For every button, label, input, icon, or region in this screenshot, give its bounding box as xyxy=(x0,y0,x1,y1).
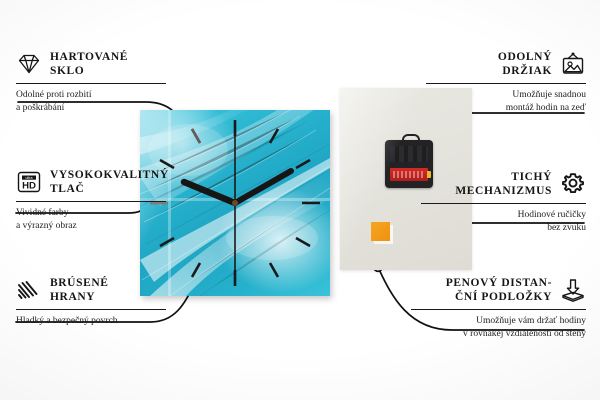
feature-description: Hodinové ručičky bez zvuku xyxy=(421,209,586,234)
feature-title: VYSOKOKVALITNÝ TLAČ xyxy=(50,168,169,196)
feature-description-line: v rovnakej vzdialenosti od steny xyxy=(411,328,586,341)
feature-title-line: ČNÍ PODLOŽKY xyxy=(446,290,552,304)
feature-title-line: SKLO xyxy=(50,64,128,78)
foam-spacer-pad xyxy=(371,222,390,241)
feature-tempered-glass: HARTOVANÉ SKLO Odolné proti rozbití a po… xyxy=(16,50,166,114)
feature-description: Odolné proti rozbití a poškrábání xyxy=(16,89,166,114)
hand-hub xyxy=(232,200,238,206)
feature-silent-mechanism: TICHÝ MECHANIZMUS Hodinové ručičky bez z… xyxy=(421,170,586,234)
feature-title-line: VYSOKOKVALITNÝ xyxy=(50,168,169,182)
ultra-hd-badge-icon: ultra HD xyxy=(16,169,42,195)
feature-header: TICHÝ MECHANIZMUS xyxy=(421,170,586,198)
feature-title-line: PENOVÝ DISTAN- xyxy=(446,276,552,290)
minute-hand xyxy=(235,171,291,203)
feature-title-line: TICHÝ xyxy=(455,170,552,184)
feature-title-line: DRŽIAK xyxy=(498,64,552,78)
feature-title: HARTOVANÉ SKLO xyxy=(50,50,128,78)
feature-description: Vividné farby a výrazný obraz xyxy=(16,207,166,232)
feature-description-line: montáž hodin na zeď xyxy=(426,102,586,115)
feature-high-quality-print: ultra HD VYSOKOKVALITNÝ TLAČ Vividné far… xyxy=(16,168,166,232)
feature-description-line: Odolné proti rozbití xyxy=(16,89,166,102)
feature-description: Umožňuje vám držať hodiny v rovnakej vzd… xyxy=(411,315,586,340)
feature-title: ODOLNÝ DRŽIAK xyxy=(498,50,552,78)
feature-polished-edges: BRÚSENÉ HRANY Hladký a bezpečný povrch xyxy=(16,276,166,328)
feature-description: Umožňuje snadnou montáž hodin na zeď xyxy=(426,89,586,114)
feature-header: PENOVÝ DISTAN- ČNÍ PODLOŽKY xyxy=(411,276,586,304)
feature-description-line: a poškrábání xyxy=(16,102,166,115)
feature-durable-holder: ODOLNÝ DRŽIAK Umožňuje snadnou montáž ho… xyxy=(426,50,586,114)
clock-hands xyxy=(140,110,330,296)
feature-description-line: Umožňuje snadnou xyxy=(426,89,586,102)
brushed-edges-icon xyxy=(16,277,42,303)
feature-title-line: HARTOVANÉ xyxy=(50,50,128,64)
feature-description-line: Hladký a bezpečný povrch xyxy=(16,315,166,328)
svg-text:HD: HD xyxy=(22,181,36,192)
feature-description-line: Hodinové ručičky xyxy=(421,209,586,222)
feature-divider xyxy=(16,201,166,202)
foam-pad-arrow-icon xyxy=(560,277,586,303)
feature-header: BRÚSENÉ HRANY xyxy=(16,276,166,304)
feature-title-line: HRANY xyxy=(50,290,109,304)
feature-title-line: BRÚSENÉ xyxy=(50,276,109,290)
gear-icon xyxy=(560,171,586,197)
infographic-canvas: HARTOVANÉ SKLO Odolné proti rozbití a po… xyxy=(0,0,600,400)
feature-title: TICHÝ MECHANIZMUS xyxy=(455,170,552,198)
mechanism-hanger-tab xyxy=(402,134,420,145)
feature-description-line: Vividné farby xyxy=(16,207,166,220)
feature-description: Hladký a bezpečný povrch xyxy=(16,315,166,328)
hour-hand xyxy=(184,182,235,203)
feature-divider xyxy=(411,309,586,310)
feature-divider xyxy=(16,309,166,310)
glass-clock-face xyxy=(140,110,330,296)
feature-title: BRÚSENÉ HRANY xyxy=(50,276,109,304)
feature-title-line: MECHANIZMUS xyxy=(455,184,552,198)
feature-description-line: Umožňuje vám držať hodiny xyxy=(411,315,586,328)
feature-divider xyxy=(421,203,586,204)
feature-title: PENOVÝ DISTAN- ČNÍ PODLOŽKY xyxy=(446,276,552,304)
feature-header: ODOLNÝ DRŽIAK xyxy=(426,50,586,78)
feature-description-line: bez zvuku xyxy=(421,222,586,235)
feature-title-line: TLAČ xyxy=(50,182,169,196)
feature-title-line: ODOLNÝ xyxy=(498,50,552,64)
diamond-icon xyxy=(16,51,42,77)
feature-description-line: a výrazný obraz xyxy=(16,220,166,233)
feature-divider xyxy=(16,83,166,84)
feature-header: ultra HD VYSOKOKVALITNÝ TLAČ xyxy=(16,168,166,196)
feature-foam-spacers: PENOVÝ DISTAN- ČNÍ PODLOŽKY Umožňuje vám… xyxy=(411,276,586,340)
svg-text:ultra: ultra xyxy=(26,176,33,180)
mechanism-embossing xyxy=(390,146,428,162)
feature-divider xyxy=(426,83,586,84)
picture-hanger-icon xyxy=(560,51,586,77)
feature-header: HARTOVANÉ SKLO xyxy=(16,50,166,78)
